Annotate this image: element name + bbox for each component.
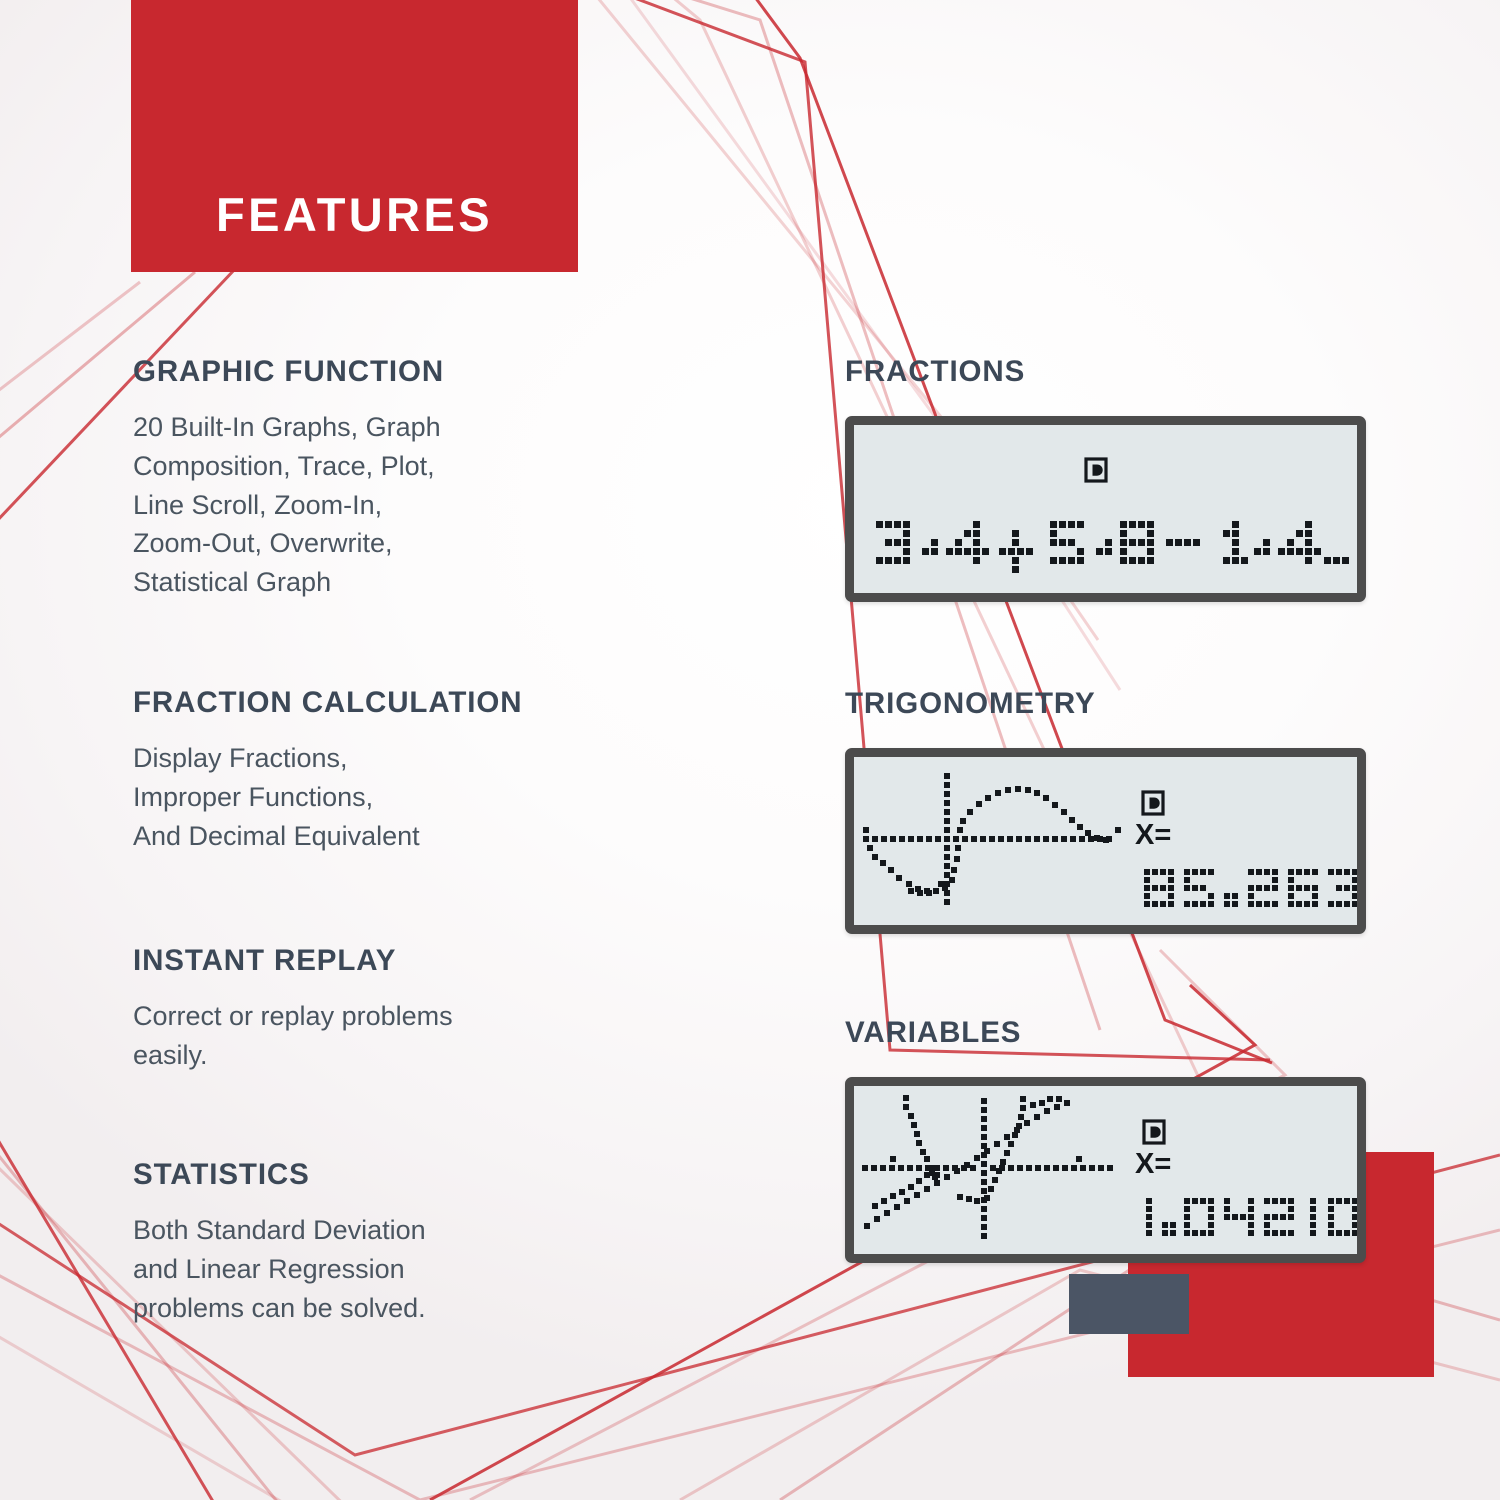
mode-indicator-d-icon [1086, 459, 1106, 481]
feature-heading-statistics: STATISTICS [133, 1159, 653, 1191]
lcd-value-trigonometry [1144, 869, 1357, 907]
lcd-plot-rising-line [864, 1100, 1070, 1229]
features-page: FEATURES GRAPHIC FUNCTION 20 Built-In Gr… [0, 0, 1500, 1500]
lcd-prompt-trigonometry: X= [1135, 819, 1171, 851]
lcd-prompt-variables: X= [1135, 1148, 1171, 1180]
lcd-plot-second-line [957, 1096, 1026, 1204]
lcd-expression-fractions [876, 521, 1349, 573]
feature-variables: VARIABLES [845, 1017, 1385, 1263]
lcd-canvas-trigonometry: X= [854, 757, 1357, 925]
feature-body-graphic-function: 20 Built-In Graphs, Graph Composition, T… [133, 408, 653, 601]
lcd-canvas-fractions [854, 425, 1357, 593]
lcd-y-axis [981, 1098, 987, 1239]
lcd-canvas-variables: X= [854, 1086, 1357, 1254]
feature-fractions: FRACTIONS [845, 356, 1385, 602]
feature-body-fraction-calculation: Display Fractions, Improper Functions, A… [133, 739, 693, 855]
feature-heading-variables: VARIABLES [845, 1017, 1385, 1049]
feature-trigonometry: TRIGONOMETRY [845, 688, 1385, 934]
feature-fraction-calculation: FRACTION CALCULATION Display Fractions, … [133, 687, 693, 855]
calculator-screen-trigonometry: X= [845, 748, 1366, 934]
feature-body-instant-replay: Correct or replay problems easily. [133, 997, 653, 1074]
feature-heading-trigonometry: TRIGONOMETRY [845, 688, 1385, 720]
calculator-screen-fractions [845, 416, 1366, 602]
calculator-screen-variables: X= [845, 1077, 1366, 1263]
decorative-gray-block [1069, 1274, 1189, 1334]
feature-heading-fraction-calculation: FRACTION CALCULATION [133, 687, 693, 719]
feature-heading-instant-replay: INSTANT REPLAY [133, 945, 653, 977]
features-banner: FEATURES [131, 0, 578, 272]
lcd-plot-lower-arc [872, 1172, 930, 1209]
mode-indicator-d-icon [1143, 792, 1163, 814]
lcd-value-variables [1146, 1198, 1357, 1236]
feature-heading-graphic-function: GRAPHIC FUNCTION [133, 356, 653, 388]
feature-statistics: STATISTICS Both Standard Deviation and L… [133, 1159, 653, 1327]
feature-graphic-function: GRAPHIC FUNCTION 20 Built-In Graphs, Gra… [133, 356, 653, 601]
feature-body-statistics: Both Standard Deviation and Linear Regre… [133, 1211, 653, 1327]
lcd-x-axis [862, 1156, 1113, 1171]
feature-heading-fractions: FRACTIONS [845, 356, 1385, 388]
page-title: FEATURES [216, 191, 493, 238]
feature-instant-replay: INSTANT REPLAY Correct or replay problem… [133, 945, 653, 1075]
mode-indicator-d-icon [1144, 1121, 1164, 1143]
